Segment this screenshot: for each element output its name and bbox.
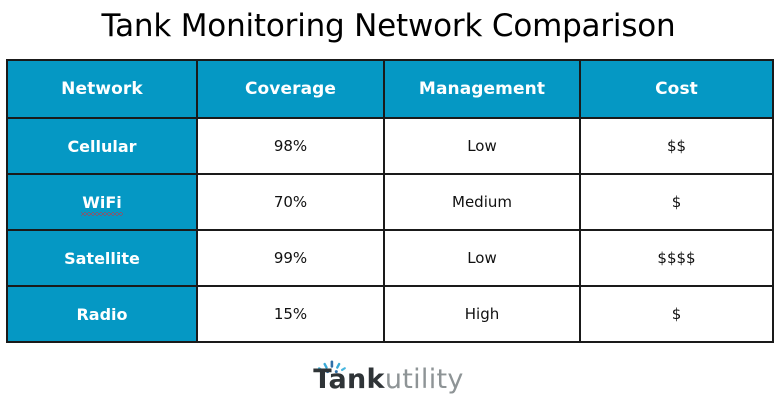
page-title: Tank Monitoring Network Comparison [0, 4, 777, 48]
cell-coverage: 99% [197, 230, 384, 286]
logo-wordmark: Tankutility [313, 364, 463, 395]
network-name-label: Cellular [67, 137, 136, 156]
logo-inner: Tankutility [313, 366, 463, 393]
cell-network: Cellular [7, 118, 197, 174]
cell-coverage: 98% [197, 118, 384, 174]
cell-management: Medium [384, 174, 580, 230]
logo-text-tank: Tank [313, 364, 385, 395]
cell-network: Satellite [7, 230, 197, 286]
brand-logo: Tankutility [0, 366, 777, 393]
cell-management: Low [384, 118, 580, 174]
cell-cost: $$ [580, 118, 773, 174]
cell-network: Radio [7, 286, 197, 342]
column-header-management: Management [384, 60, 580, 118]
network-name-label: Radio [76, 305, 127, 324]
cell-cost: $ [580, 174, 773, 230]
cell-cost: $ [580, 286, 773, 342]
table-row: Cellular 98% Low $$ [7, 118, 773, 174]
cell-network: WiFi [7, 174, 197, 230]
cell-cost: $$$$ [580, 230, 773, 286]
logo-text-utility: utility [385, 364, 464, 395]
network-name-label: WiFi [82, 193, 122, 212]
table-row: WiFi 70% Medium $ [7, 174, 773, 230]
page-canvas: Tank Monitoring Network Comparison Netwo… [0, 0, 777, 409]
column-header-network: Network [7, 60, 197, 118]
table-header-row: Network Coverage Management Cost [7, 60, 773, 118]
table-row: Radio 15% High $ [7, 286, 773, 342]
network-name-label: Satellite [64, 249, 140, 268]
cell-management: Low [384, 230, 580, 286]
column-header-cost: Cost [580, 60, 773, 118]
cell-coverage: 70% [197, 174, 384, 230]
table-row: Satellite 99% Low $$$$ [7, 230, 773, 286]
cell-management: High [384, 286, 580, 342]
column-header-coverage: Coverage [197, 60, 384, 118]
network-comparison-table: Network Coverage Management Cost Cellula… [6, 59, 774, 343]
cell-coverage: 15% [197, 286, 384, 342]
